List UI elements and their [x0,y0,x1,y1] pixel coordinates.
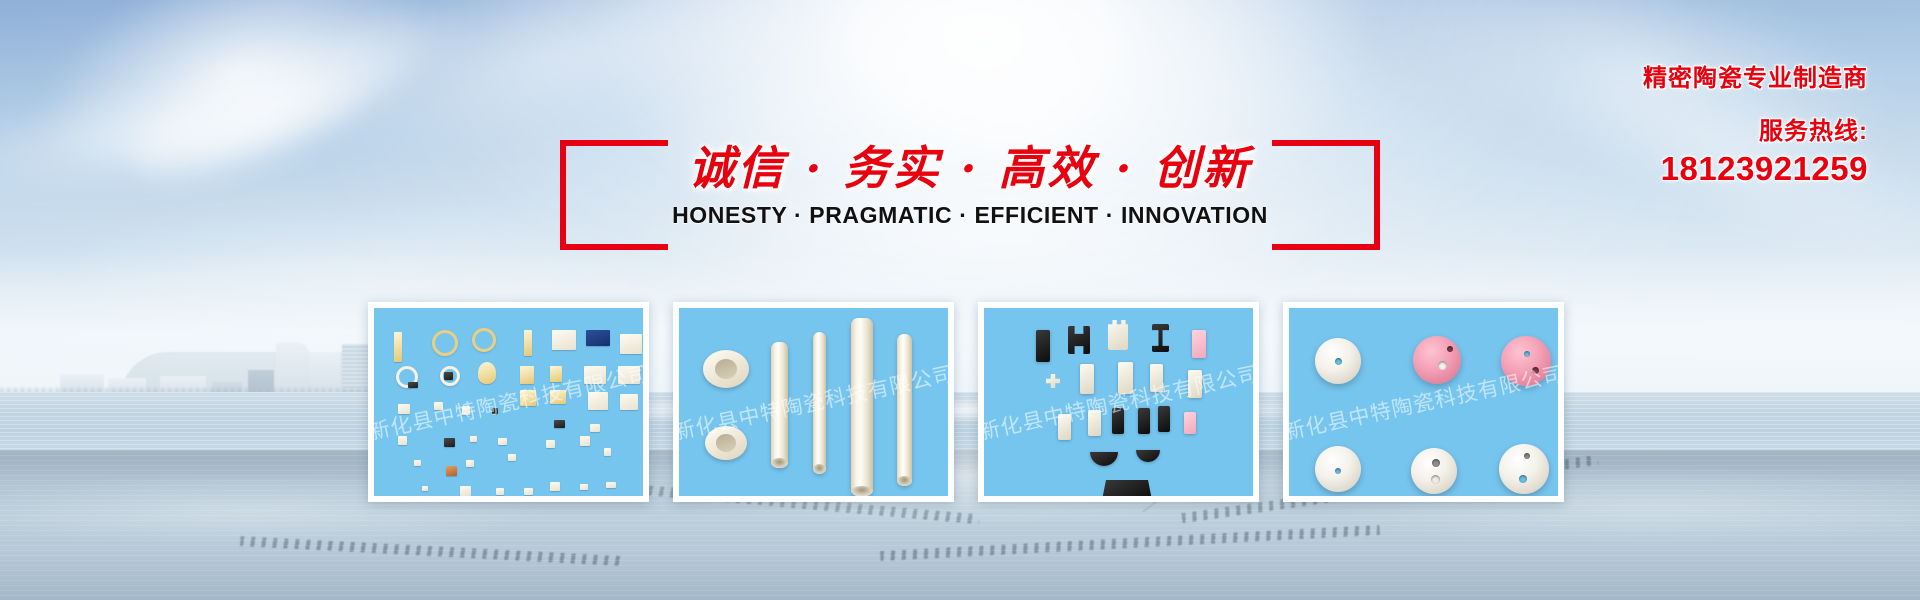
panel-reflection [1283,504,1564,600]
panel-photo: 新化县中特陶瓷科技有限公司 [679,308,948,496]
product-panel-smd-components[interactable]: 新化县中特陶瓷科技有限公司 [368,302,649,502]
product-panel-ceramic-discs[interactable]: 新化县中特陶瓷科技有限公司 [1283,302,1564,502]
product-panel-ceramic-blocks[interactable]: 新化县中特陶瓷科技有限公司 [978,302,1259,502]
product-panel-strip: 新化县中特陶瓷科技有限公司 新化县中特陶瓷科技有限公司 [0,0,1920,600]
hero-banner: 诚信 · 务实 · 高效 · 创新 HONESTY · PRAGMATIC · … [0,0,1920,600]
panel-reflection [368,504,649,600]
panel-reflection [673,504,954,600]
product-panel-ceramic-tubes[interactable]: 新化县中特陶瓷科技有限公司 [673,302,954,502]
panel-photo: 新化县中特陶瓷科技有限公司 [374,308,643,496]
panel-reflection [978,504,1259,600]
panel-photo: 新化县中特陶瓷科技有限公司 [984,308,1253,496]
panel-photo: 新化县中特陶瓷科技有限公司 [1289,308,1558,496]
